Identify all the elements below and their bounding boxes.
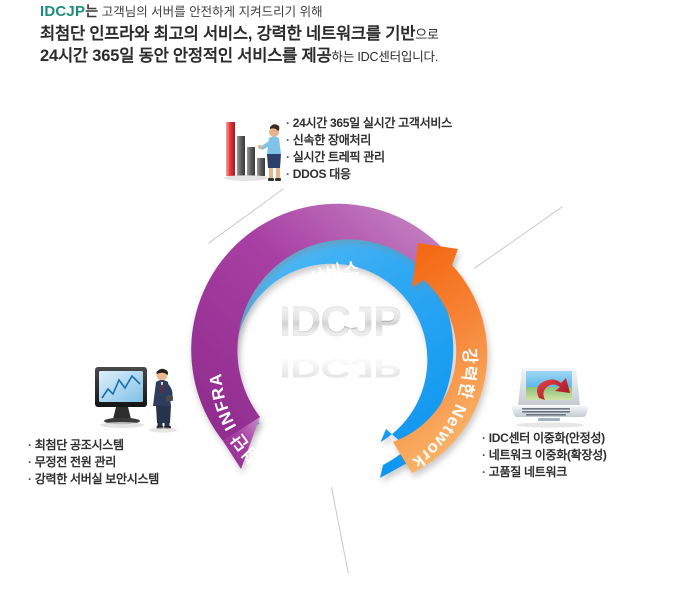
cycle-diagram-svg: 최고의 서비스 강력한 Network 최첨단 INFRA xyxy=(190,195,490,495)
laptop-arrow-icon xyxy=(508,362,592,428)
monitor-businessman-icon xyxy=(92,363,188,435)
header-line-2-strong: 최첨단 인프라와 최고의 서비스, 강력한 네트워크를 기반 xyxy=(40,25,415,43)
header-line-3-strong: 24시간 365일 동안 안정적인 서비스를 제공 xyxy=(40,47,332,65)
panel-top-bullets: 24시간 365일 실시간 고객서비스 신속한 장애처리 실시간 트레픽 관리 … xyxy=(286,115,452,183)
infographic-stage: IDCJP는 고객님의 서버를 안전하게 지켜드리기 위해 최첨단 인프라와 최… xyxy=(0,0,680,600)
list-item: 최첨단 공조시스템 xyxy=(28,437,159,454)
header-line-3: 24시간 365일 동안 안정적인 서비스를 제공하는 IDC센터입니다. xyxy=(40,48,660,65)
list-item: 신속한 장애처리 xyxy=(286,132,452,149)
header-line-2: 최첨단 인프라와 최고의 서비스, 강력한 네트워크를 기반으로 xyxy=(40,26,660,43)
list-item: 실시간 트레픽 관리 xyxy=(286,149,452,166)
list-item: DDOS 대응 xyxy=(286,166,452,183)
header-line-1: IDCJP는 고객님의 서버를 안전하게 지켜드리기 위해 xyxy=(40,4,660,19)
connector-line-bottom xyxy=(331,487,349,574)
header-line-2-small: 으로 xyxy=(415,27,439,42)
panel-right-bullets: IDC센터 이중화(안정성) 네트워크 이중화(확장성) 고품질 네트워크 xyxy=(482,430,607,481)
list-item: 무정전 전원 관리 xyxy=(28,454,159,471)
list-item: 24시간 365일 실시간 고객서비스 xyxy=(286,115,452,132)
brand-name: IDCJP xyxy=(40,3,85,20)
panel-left-bullets: 최첨단 공조시스템 무정전 전원 관리 강력한 서버실 보안시스템 xyxy=(28,437,159,488)
brand-particle: 는 xyxy=(85,3,98,19)
list-item: IDC센터 이중화(안정성) xyxy=(482,430,607,447)
list-item: 고품질 네트워크 xyxy=(482,464,607,481)
header-line-3-small: 하는 IDC센터입니다. xyxy=(332,50,439,64)
header-line-1-rest: 고객님의 서버를 안전하게 지켜드리기 위해 xyxy=(102,5,323,19)
list-item: 네트워크 이중화(확장성) xyxy=(482,447,607,464)
page-header: IDCJP는 고객님의 서버를 안전하게 지켜드리기 위해 최첨단 인프라와 최… xyxy=(40,4,660,64)
list-item: 강력한 서버실 보안시스템 xyxy=(28,471,159,488)
bar-chart-presenter-icon xyxy=(224,116,286,182)
cycle-diagram: 최고의 서비스 강력한 Network 최첨단 INFRA xyxy=(190,195,490,495)
